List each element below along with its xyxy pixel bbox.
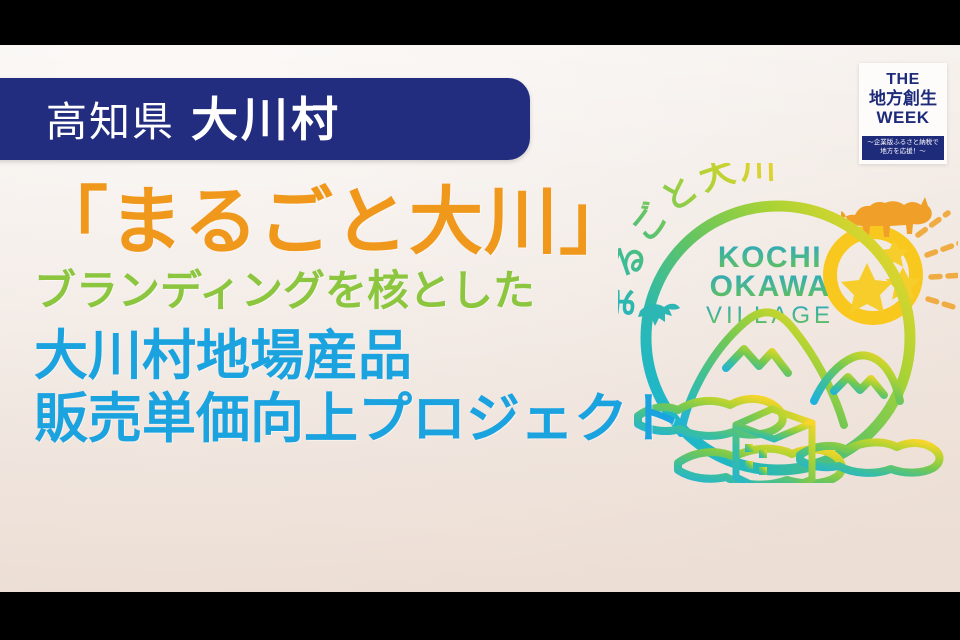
event-badge-tagline-line1: 〜企業版ふるさと納税で [863, 139, 943, 148]
prefecture-village-badge-inner: 高知県 大川村 [46, 96, 341, 143]
village-label: 大川村 [191, 96, 341, 143]
event-badge-tagline: 〜企業版ふるさと納税で 地方を応援！〜 [862, 136, 944, 160]
sun-rays-icon [918, 213, 958, 309]
project-title-line2: 販売単価向上プロジェクト [34, 388, 794, 451]
event-badge-the: THE [886, 72, 920, 89]
prefecture-village-badge: 高知県 大川村 [0, 78, 530, 160]
event-badge-tagline-line2: 地方を応援！〜 [863, 148, 943, 157]
event-badge: THE 地方創生 WEEK 〜企業版ふるさと納税で 地方を応援！〜 [859, 63, 947, 164]
project-title-main: 「まるごと大川」 [34, 185, 794, 259]
headline-block: 「まるごと大川」 ブランディングを核とした 大川村地場産品 販売単価向上プロジェ… [34, 185, 794, 450]
slide-canvas: 高知県 大川村 「まるごと大川」 ブランディングを核とした 大川村地場産品 販売… [0, 0, 960, 640]
prefecture-label: 高知県 [46, 102, 175, 143]
project-title-line1: 大川村地場産品 [34, 325, 794, 388]
project-subtitle-green: ブランディングを核とした [34, 269, 794, 313]
letterbox-top [0, 0, 960, 45]
slide-content: 高知県 大川村 「まるごと大川」 ブランディングを核とした 大川村地場産品 販売… [0, 45, 960, 592]
letterbox-bottom [0, 592, 960, 640]
event-badge-week: WEEK [877, 109, 930, 128]
event-badge-japanese: 地方創生 [869, 90, 937, 109]
